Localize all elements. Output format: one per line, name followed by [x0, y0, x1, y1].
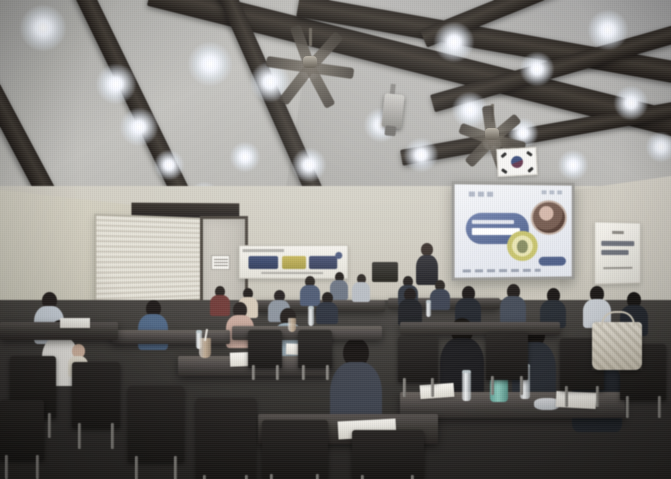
downlight: [588, 10, 628, 50]
chair[interactable]: [486, 332, 528, 380]
chair-leg: [431, 378, 434, 396]
downlight: [520, 52, 554, 86]
chair-leg: [403, 378, 406, 396]
trigram-1: [501, 152, 507, 158]
chair-leg: [491, 376, 494, 395]
person-torso: [430, 289, 450, 310]
bag-pattern: [592, 322, 642, 370]
seated-attendee: [398, 288, 422, 326]
chair-leg: [135, 456, 138, 479]
chair-leg: [111, 423, 114, 449]
slide-corner-text: [542, 190, 563, 194]
monitor: [372, 262, 398, 282]
water-bottle: [462, 370, 471, 401]
poster-header-text: [612, 231, 624, 234]
chair-leg: [174, 456, 177, 479]
slide-portrait-icon: [531, 200, 567, 235]
banner-top-text: [243, 249, 284, 252]
poster-headline-2: [601, 250, 628, 255]
chair-leg: [276, 365, 279, 380]
person-torso: [316, 302, 338, 324]
bag-handle: [601, 311, 635, 326]
window-blinds: [94, 214, 212, 305]
banner-title-block-2: [282, 256, 306, 269]
chair[interactable]: [398, 336, 438, 382]
chair-leg: [48, 413, 51, 438]
tote-bag: [592, 322, 642, 370]
right-wall-poster: [594, 221, 641, 284]
paper-handout: [420, 383, 455, 399]
downlight: [96, 64, 136, 104]
downlight: [20, 5, 66, 51]
trigram-2: [526, 151, 532, 156]
chair-leg: [326, 365, 329, 380]
chair-leg: [596, 386, 599, 407]
chair-leg: [316, 474, 319, 479]
banner-title-block-1: [248, 256, 278, 269]
chair-leg: [252, 365, 255, 380]
downlight: [646, 132, 671, 162]
banner-subtitle-text: [261, 271, 323, 274]
trigram-4: [527, 166, 533, 172]
projector-screen: [452, 181, 575, 281]
chair-leg: [626, 396, 629, 418]
chair[interactable]: [196, 398, 256, 479]
table-row: [0, 322, 118, 340]
paper-handout: [60, 318, 90, 328]
slide-header-text: [469, 192, 495, 197]
chair[interactable]: [262, 420, 328, 479]
projected-slide: [455, 184, 572, 277]
chair-leg: [361, 475, 364, 479]
chair-leg: [565, 386, 568, 407]
downlight: [614, 86, 648, 120]
chair-leg: [520, 376, 523, 395]
seated-attendee: [352, 274, 370, 302]
seated-attendee: [430, 280, 450, 310]
downlight: [404, 138, 438, 172]
ceiling-fan-front: [262, 42, 358, 82]
person-torso: [352, 282, 370, 302]
table-row: [112, 330, 230, 344]
water-bottle: [308, 306, 314, 326]
chair-leg: [270, 474, 273, 479]
south-korean-flag-icon: [496, 147, 537, 177]
table-row: [400, 322, 560, 335]
fan-hub: [303, 56, 317, 68]
downlight: [292, 148, 326, 182]
ceiling-projector: [381, 93, 404, 129]
chair-leg: [78, 423, 81, 449]
banner-logo-icon: [335, 252, 342, 259]
banner-title-block-3: [309, 256, 337, 269]
chair-leg: [411, 475, 414, 479]
chair[interactable]: [72, 362, 120, 428]
chair-leg: [302, 365, 305, 380]
paper-handout: [556, 391, 597, 409]
downlight: [120, 108, 158, 146]
ceiling-fan-rear: [455, 118, 529, 150]
chair-leg: [203, 475, 206, 479]
downlight: [188, 42, 232, 86]
seated-attendee: [500, 284, 526, 324]
chair-leg: [658, 396, 661, 418]
person-torso: [500, 296, 526, 324]
trigram-3: [501, 168, 507, 173]
water-bottle: [426, 300, 431, 317]
slide-button: [538, 256, 566, 265]
chair-leg: [5, 455, 8, 479]
slide-bubble-line-1: [472, 220, 514, 224]
chair-leg: [36, 455, 39, 479]
fan-hub: [485, 128, 499, 140]
chair[interactable]: [352, 430, 424, 479]
downlight: [154, 150, 184, 180]
taeguk-circle: [511, 156, 524, 169]
chair[interactable]: [248, 330, 282, 368]
door-notice-sign: [211, 255, 230, 270]
slide-footer-text: [463, 269, 541, 273]
poster-headline-1: [601, 241, 634, 246]
chair[interactable]: [0, 400, 44, 460]
chair-leg: [245, 475, 248, 479]
seated-attendee: [316, 292, 338, 324]
slide-emblem-icon: [507, 231, 537, 261]
fan-downrod: [309, 28, 312, 46]
chair[interactable]: [298, 330, 332, 368]
iced-coffee-cup: [288, 318, 296, 332]
downlight: [230, 142, 260, 172]
downlight: [434, 22, 474, 62]
seminar-room-photo: [0, 0, 671, 479]
poster-body-text: [603, 267, 632, 269]
chair[interactable]: [128, 386, 184, 462]
downlight: [558, 150, 588, 180]
